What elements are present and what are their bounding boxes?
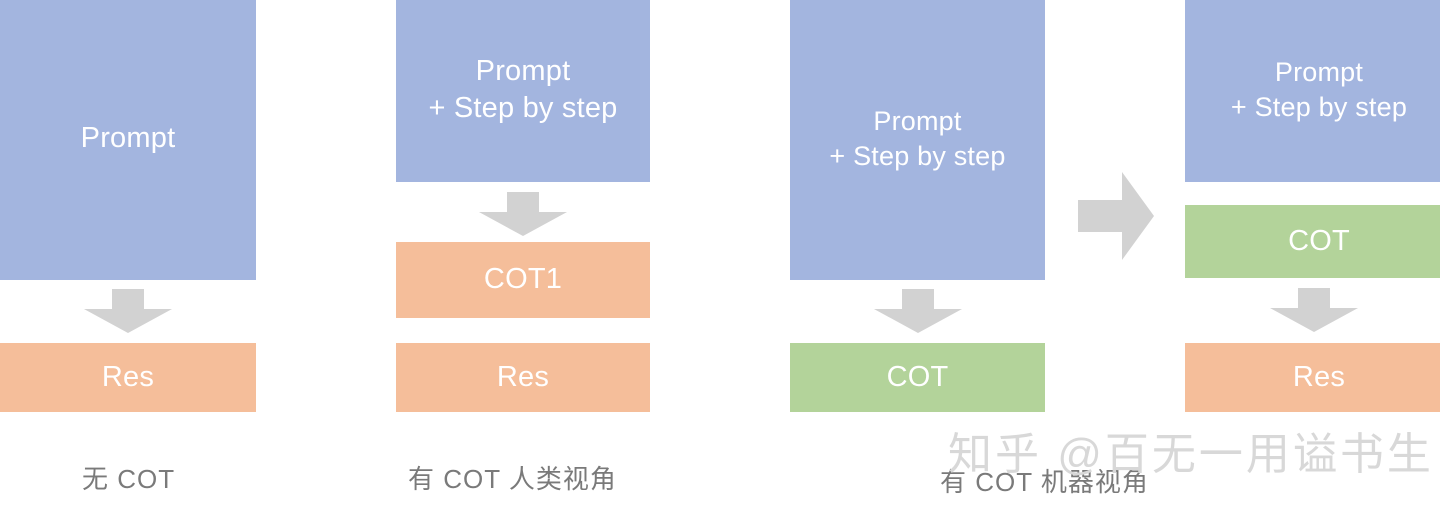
stage-transition-right-arrow-icon bbox=[1078, 172, 1154, 260]
col1-prompt-box: Prompt bbox=[0, 0, 256, 280]
col4-prompt-box: Prompt + Step by step bbox=[1185, 0, 1440, 182]
col3-cot-box: COT bbox=[790, 343, 1045, 412]
col3-down-arrow-icon bbox=[874, 289, 962, 333]
col2-caption: 有 COT 人类视角 bbox=[408, 459, 617, 496]
col1-result-box: Res bbox=[0, 343, 256, 412]
col2-down-arrow-icon bbox=[479, 192, 567, 236]
col4-cot-box: COT bbox=[1185, 205, 1440, 278]
col4-down-arrow-icon bbox=[1270, 288, 1358, 332]
col4-result-box: Res bbox=[1185, 343, 1440, 412]
col1-down-arrow-icon bbox=[84, 289, 172, 333]
col2-cot1-box: COT1 bbox=[396, 242, 650, 318]
col1-caption: 无 COT bbox=[82, 459, 175, 496]
col3-caption: 有 COT 机器视角 bbox=[940, 462, 1149, 499]
diagram-canvas: Prompt Res 无 COT Prompt + Step by step C… bbox=[0, 0, 1440, 514]
col2-prompt-box: Prompt + Step by step bbox=[396, 0, 650, 182]
col2-result-box: Res bbox=[396, 343, 650, 412]
col3-prompt-box: Prompt + Step by step bbox=[790, 0, 1045, 280]
